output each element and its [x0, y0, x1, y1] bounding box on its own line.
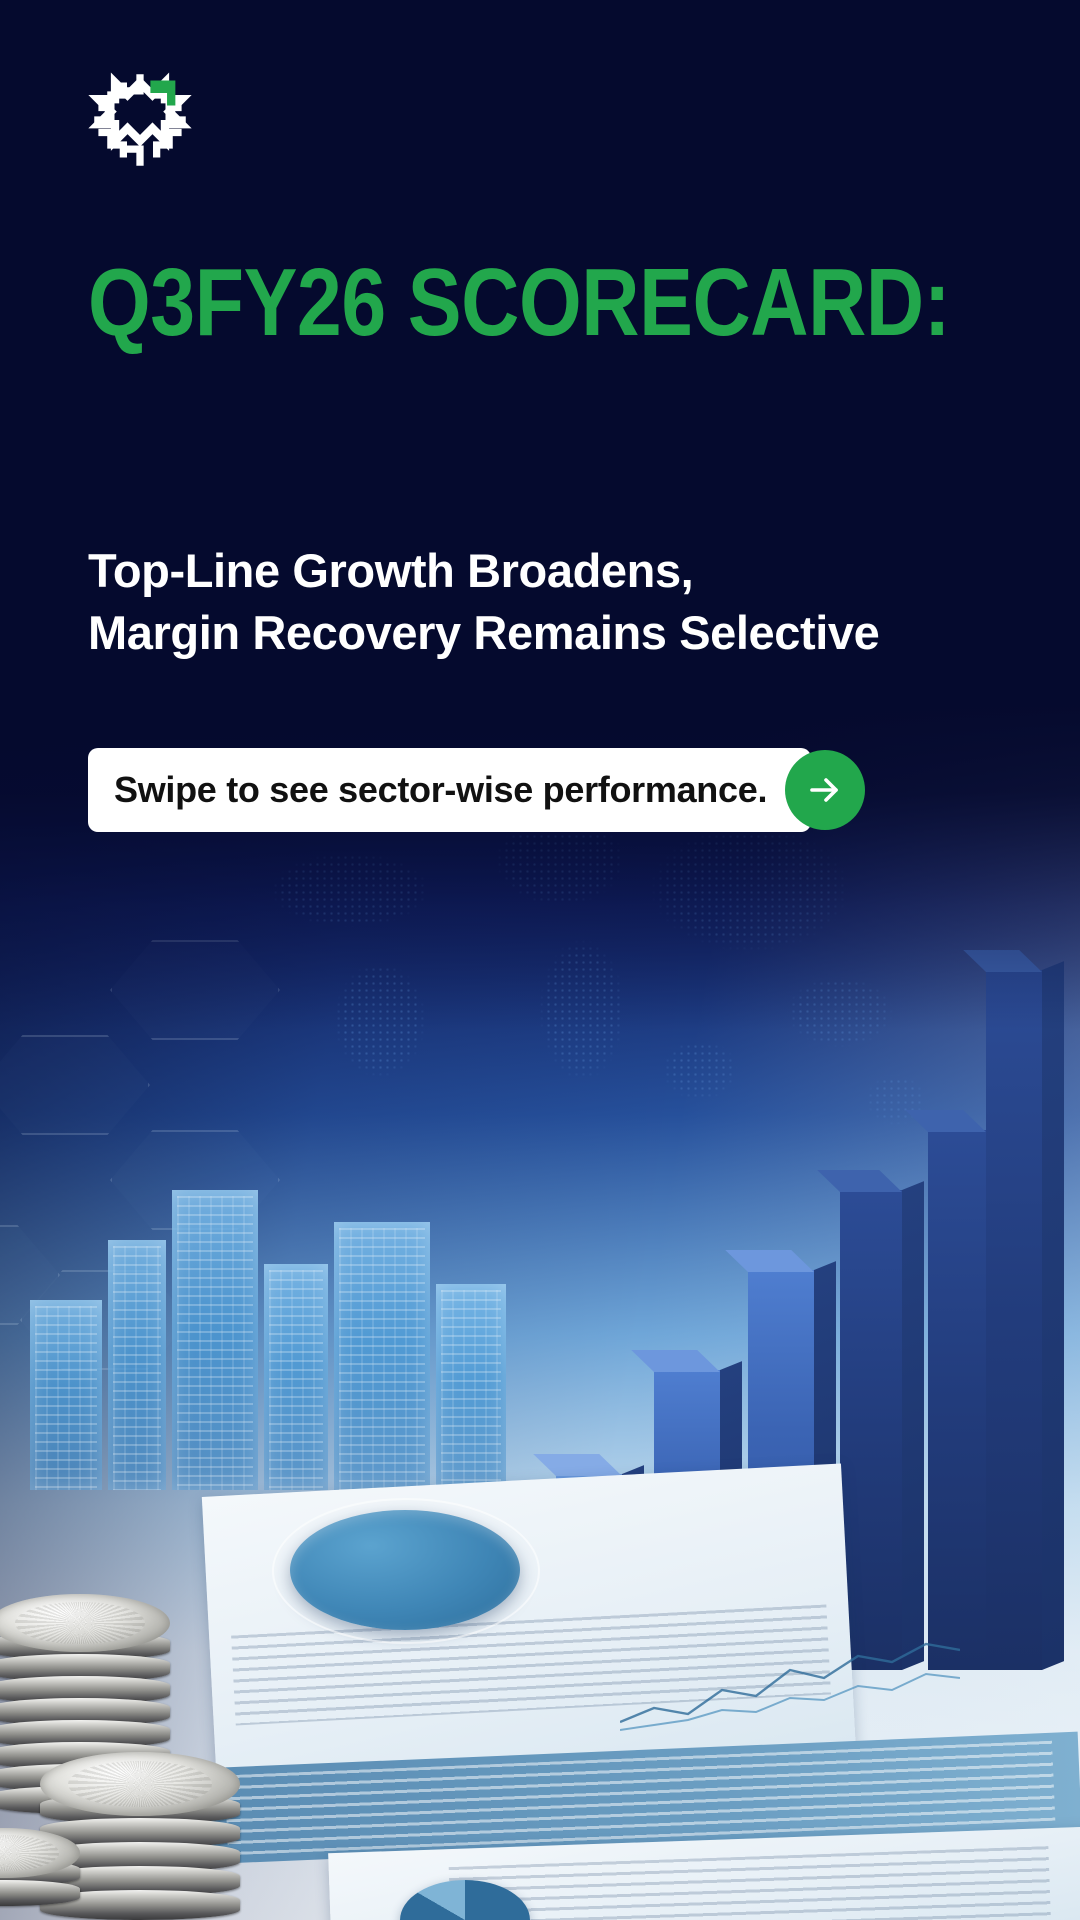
page-headline: Q3FY26 SCORECARD:: [88, 258, 950, 348]
coin-stacks: [0, 1400, 310, 1920]
swipe-cta[interactable]: Swipe to see sector-wise performance.: [88, 748, 865, 832]
arrow-right-icon[interactable]: [785, 750, 865, 830]
line-chart-graphic: [620, 1630, 960, 1740]
page-subheadline: Top-Line Growth Broadens, Margin Recover…: [88, 540, 879, 664]
swipe-cta-pill[interactable]: Swipe to see sector-wise performance.: [88, 748, 811, 832]
brand-logo-icon[interactable]: [88, 68, 192, 172]
social-card-poster: Q3FY26 SCORECARD: Top-Line Growth Broade…: [0, 0, 1080, 1920]
subheadline-line-1: Top-Line Growth Broadens,: [88, 540, 879, 602]
swipe-cta-label: Swipe to see sector-wise performance.: [114, 769, 767, 811]
subheadline-line-2: Margin Recovery Remains Selective: [88, 602, 879, 664]
header-content: Q3FY26 SCORECARD: Top-Line Growth Broade…: [0, 0, 1080, 900]
